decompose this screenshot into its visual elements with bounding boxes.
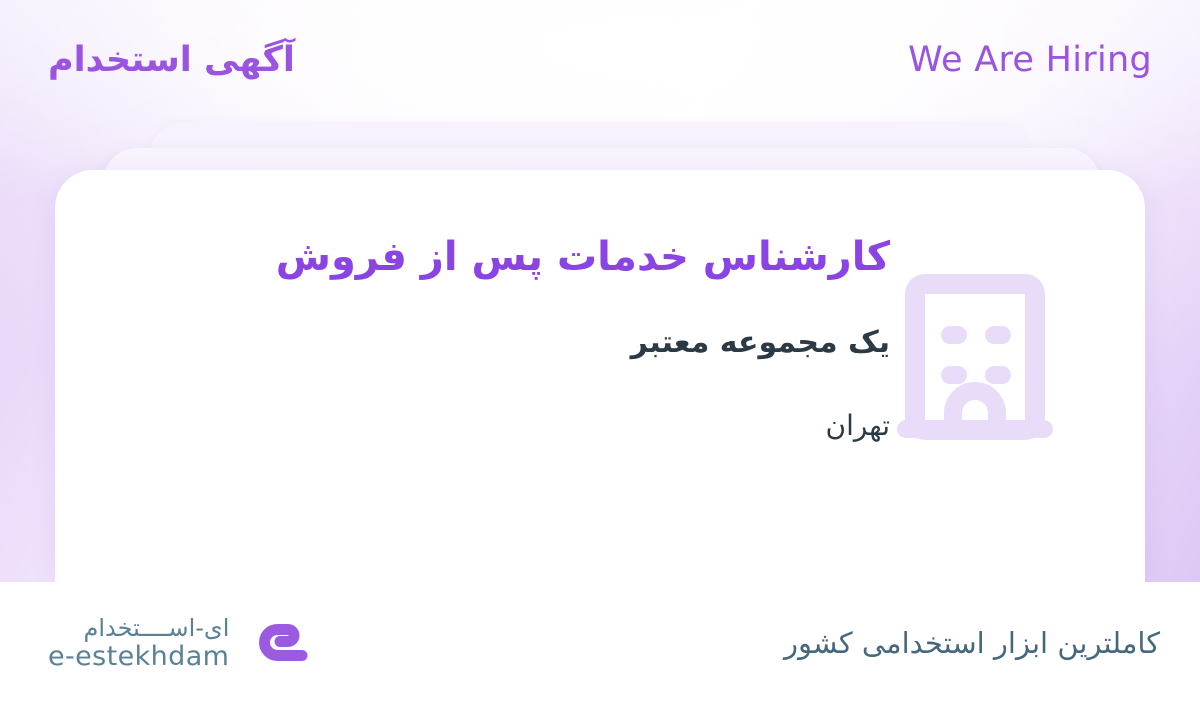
hiring-label-english: We Are Hiring [908, 43, 1152, 78]
poster-footer: کاملترین ابزار استخدامی کشور ای-اســــتخ… [0, 582, 1200, 705]
job-title: کارشناس خدمات پس از فروش [55, 230, 890, 284]
brand-name-persian: ای-اســــتخدام [84, 615, 230, 642]
job-card-content: کارشناس خدمات پس از فروش یک مجموعه معتبر… [55, 170, 1145, 582]
footer-tagline: کاملترین ابزار استخدامی کشور [784, 623, 1160, 664]
hiring-label-persian: آگهی استخدام [48, 36, 295, 85]
e-estekhdam-logo-icon [247, 611, 313, 677]
building-icon [895, 268, 1055, 443]
job-details: کارشناس خدمات پس از فروش یک مجموعه معتبر… [55, 228, 890, 445]
brand-wordmark: ای-اســــتخدام e-estekhdam [48, 615, 229, 672]
poster-header: We Are Hiring آگهی استخدام [0, 0, 1200, 120]
job-ad-poster: We Are Hiring آگهی استخدام کارشناس خدمات… [0, 0, 1200, 705]
brand-lockup: ای-اســــتخدام e-estekhdam [48, 611, 313, 677]
brand-name-english: e-estekhdam [48, 642, 229, 672]
company-logo-placeholder [890, 228, 1090, 443]
job-location: تهران [55, 406, 890, 445]
company-name: یک مجموعه معتبر [55, 322, 890, 364]
